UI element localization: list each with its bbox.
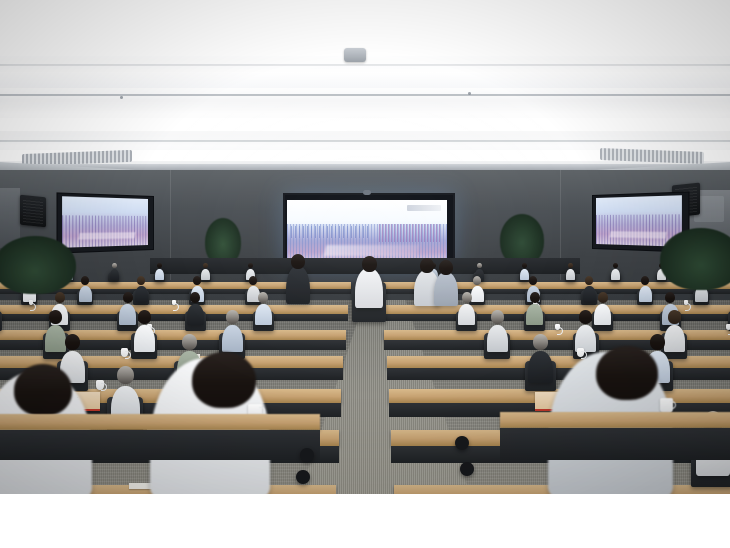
- ceiling-beam-seam-2: [0, 94, 730, 96]
- ceiling-sprinkler-icon: [468, 92, 471, 95]
- person-head: [533, 334, 548, 350]
- paper-document: [129, 483, 152, 489]
- chair-caster: [460, 462, 474, 476]
- person-head: [112, 263, 117, 268]
- person: [187, 304, 204, 325]
- ceiling-light-strip-2: [0, 72, 730, 88]
- screen-camera-icon: [363, 190, 371, 195]
- ceiling: [0, 0, 730, 178]
- table-modesty-panel: [500, 428, 730, 460]
- person-head: [258, 292, 268, 303]
- person: [355, 268, 383, 308]
- person-head: [138, 310, 151, 324]
- chair-caster: [455, 436, 469, 450]
- potted-plant: [0, 236, 76, 294]
- person-head: [665, 292, 675, 303]
- person: [45, 325, 66, 352]
- person-head: [650, 334, 665, 350]
- person-head: [529, 276, 537, 285]
- person: [222, 325, 243, 352]
- person-head: [530, 292, 540, 303]
- person-head: [190, 292, 200, 303]
- main-led-screen[interactable]: [287, 200, 447, 260]
- ceiling-light-strip-3: [0, 118, 730, 131]
- tea-cup: [172, 300, 176, 305]
- person: [520, 269, 529, 280]
- person: [134, 325, 155, 352]
- person: [135, 286, 148, 302]
- conference-table: [0, 414, 320, 430]
- person: [639, 286, 652, 302]
- ceiling-beam-seam-1: [0, 64, 730, 66]
- table-modesty-panel: [387, 368, 730, 380]
- person: [119, 304, 136, 325]
- chair-caster: [300, 448, 314, 462]
- person-head: [123, 292, 133, 303]
- person-head: [157, 263, 162, 268]
- screen-watermark: [407, 205, 441, 211]
- tea-cup: [684, 300, 688, 305]
- person-head: [439, 260, 453, 275]
- smoke-detector-icon: [344, 48, 366, 62]
- person: [566, 269, 575, 280]
- person: [79, 286, 92, 302]
- person-head: [14, 364, 72, 416]
- person-head: [596, 346, 658, 400]
- person-head: [491, 310, 504, 324]
- person-head: [613, 263, 618, 268]
- screen-river: [324, 245, 420, 256]
- tea-cup: [726, 324, 730, 330]
- person: [255, 304, 272, 325]
- person-head: [192, 352, 256, 408]
- person-head: [641, 276, 649, 285]
- person-head: [420, 258, 434, 273]
- tea-cup: [96, 380, 104, 390]
- wall-speaker-left: [20, 195, 46, 228]
- person-head: [473, 276, 481, 285]
- person-head: [579, 310, 592, 324]
- person-head: [362, 256, 377, 272]
- person: [611, 269, 620, 280]
- person-head: [477, 263, 482, 268]
- tea-cup: [29, 300, 33, 305]
- page-whitespace: [0, 494, 730, 548]
- person-head: [182, 334, 197, 350]
- person: [583, 286, 596, 302]
- tea-cup: [121, 348, 128, 357]
- person: [155, 269, 164, 280]
- person-head: [668, 310, 681, 324]
- person-head: [249, 276, 257, 285]
- person-head: [117, 366, 134, 384]
- person-head: [585, 276, 593, 285]
- tea-cup: [577, 348, 584, 357]
- ceiling-sprinkler-icon: [120, 96, 123, 99]
- person: [110, 269, 119, 280]
- person-head: [55, 292, 65, 303]
- chair-caster: [296, 470, 310, 484]
- person-head: [226, 310, 239, 324]
- person-head: [598, 292, 608, 303]
- person: [434, 272, 458, 306]
- person-head: [193, 276, 201, 285]
- person-head: [248, 263, 253, 268]
- person-head: [462, 292, 472, 303]
- person-head: [81, 276, 89, 285]
- tea-cup: [555, 324, 560, 330]
- left-side-screen[interactable]: [62, 196, 148, 247]
- person: [458, 304, 475, 325]
- ceiling-beam-seam-3: [0, 140, 730, 142]
- person-head: [568, 263, 573, 268]
- person: [471, 286, 484, 302]
- person-head: [203, 263, 208, 268]
- person: [286, 266, 310, 304]
- person: [487, 325, 508, 352]
- tea-cup: [660, 398, 673, 413]
- person: [594, 304, 611, 325]
- ceiling-light-strip-1: [0, 0, 730, 56]
- screen-skyline-right: [379, 224, 441, 242]
- person-head: [291, 254, 305, 269]
- person-head: [65, 334, 80, 350]
- person-head: [49, 310, 62, 324]
- person: [526, 304, 543, 325]
- person: [201, 269, 210, 280]
- person-head: [137, 276, 145, 285]
- person-head: [522, 263, 527, 268]
- person: [528, 351, 553, 383]
- person: [664, 325, 685, 352]
- table-modesty-panel: [0, 430, 320, 460]
- conference-room-photograph: 子名: [0, 0, 730, 494]
- chair: [0, 311, 2, 331]
- potted-plant: [660, 228, 730, 290]
- conference-table: [500, 412, 730, 428]
